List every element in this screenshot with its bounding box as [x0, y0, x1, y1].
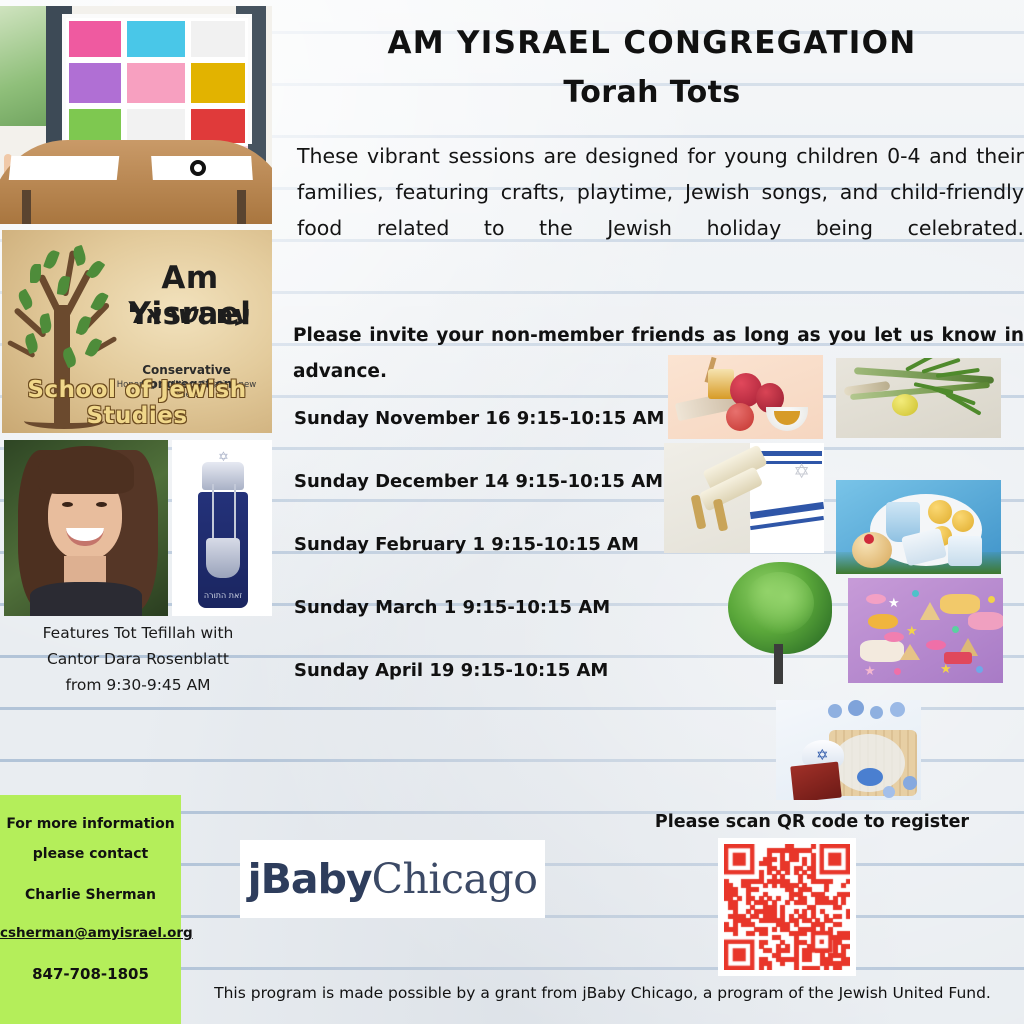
qr-code[interactable] [718, 838, 856, 976]
purim-masks-photo: ★ ★ ★ ★ [848, 578, 1003, 683]
session-date-list: Sunday November 16 9:15-10:15 AM Sunday … [294, 408, 684, 723]
contact-info-box: For more information please contact Char… [0, 795, 181, 1024]
cantor-caption-line-3: from 9:30-9:45 AM [0, 672, 276, 698]
title-block: AM YISRAEL CONGREGATION Torah Tots [280, 24, 1024, 110]
qr-code-canvas[interactable] [724, 844, 850, 970]
star-of-david-icon: ✡ [816, 746, 829, 764]
contact-name: Charlie Sherman [0, 887, 181, 903]
cantor-headshot-photo [4, 440, 168, 616]
grant-footer-note: This program is made possible by a grant… [181, 984, 1024, 1002]
contact-email-link[interactable]: csherman@amyisrael.org [0, 925, 193, 941]
cantor-caption: Features Tot Tefillah with Cantor Dara R… [0, 620, 276, 698]
classroom-children-photo [0, 6, 272, 224]
cantor-caption-line-1: Features Tot Tefillah with [0, 620, 276, 646]
torah-and-tallit-photo: ✡ [664, 443, 824, 553]
hanukkah-cookies-photo [836, 480, 1001, 574]
sukkot-lulav-etrog-photo [836, 358, 1001, 438]
passover-seder-photo: ✡ [776, 700, 921, 800]
flyer-page: AM YISRAEL CONGREGATION Torah Tots These… [0, 0, 1024, 1024]
list-item: Sunday February 1 9:15-10:15 AM [294, 534, 684, 597]
logo-text-chicago: Chicago [372, 855, 538, 903]
torah-scroll-photo: ✡ זאת התורה [172, 440, 272, 616]
rosh-hashanah-photo [668, 355, 823, 439]
contact-phone: 847-708-1805 [0, 965, 181, 983]
list-item: Sunday March 1 9:15-10:15 AM [294, 597, 684, 660]
contact-heading-line-2: please contact [0, 839, 181, 869]
list-item: Sunday December 14 9:15-10:15 AM [294, 471, 684, 534]
contact-heading-line-1: For more information [0, 809, 181, 839]
jbaby-chicago-logo: jBabyChicago [240, 840, 545, 918]
cantor-caption-line-2: Cantor Dara Rosenblatt [0, 646, 276, 672]
qr-instruction-label: Please scan QR code to register [600, 812, 1024, 832]
logo-name-hebrew: עם ישראל [112, 300, 268, 330]
program-subtitle: Torah Tots [280, 75, 1024, 110]
intro-paragraph: These vibrant sessions are designed for … [297, 138, 1024, 282]
tu-bishvat-tree-photo [724, 562, 834, 684]
congregation-logo: Am Yisrael עם ישראל Conservative Congreg… [2, 230, 272, 433]
logo-text-jbaby: jBaby [248, 855, 372, 903]
list-item: Sunday November 16 9:15-10:15 AM [294, 408, 684, 471]
page-title: AM YISRAEL CONGREGATION [280, 24, 1024, 63]
list-item: Sunday April 19 9:15-10:15 AM [294, 660, 684, 723]
star-of-david-icon: ✡ [793, 459, 810, 483]
logo-school-name: School of Jewish Studies [2, 377, 272, 429]
